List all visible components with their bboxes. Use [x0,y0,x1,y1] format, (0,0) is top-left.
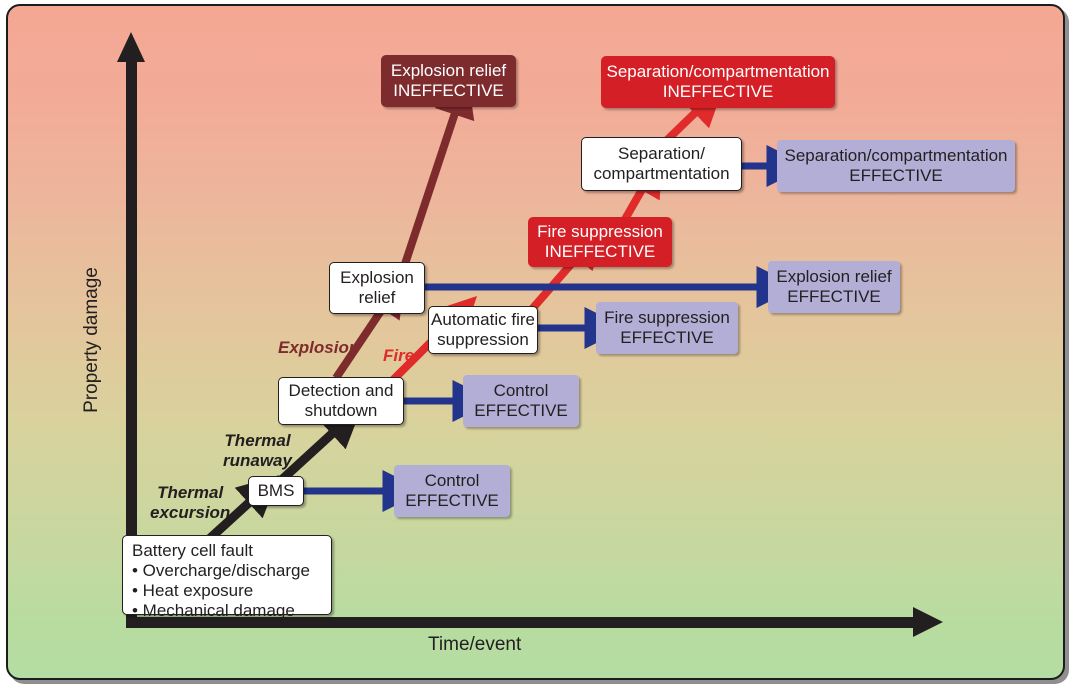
outcome-explosion-relief-effective[interactable]: Explosion relief EFFECTIVE [768,261,900,313]
outcome-explosion-relief-ineffective[interactable]: Explosion relief INEFFECTIVE [381,55,516,107]
node-detection-and-shutdown[interactable]: Detection and shutdown [278,377,404,425]
bms-label: BMS [258,481,295,501]
battery-fault-bullet-1: • Heat exposure [132,581,310,601]
battery-fault-bullet-2: • Mechanical damage [132,601,310,621]
node-explosion-relief[interactable]: Explosion relief [329,262,425,314]
outcome-separation-effective[interactable]: Separation/compartmentation EFFECTIVE [777,140,1015,192]
diagram-frame: Property damage Time/event [6,4,1065,680]
outcome-fire-suppression-ineffective[interactable]: Fire suppression INEFFECTIVE [528,217,672,267]
outcome-control-effective-detection[interactable]: Control EFFECTIVE [463,375,579,427]
battery-fault-title: Battery cell fault [132,541,310,561]
outcome-fire-suppression-effective[interactable]: Fire suppression EFFECTIVE [596,302,738,354]
node-battery-cell-fault[interactable]: Battery cell fault • Overcharge/discharg… [122,535,332,615]
y-axis-arrowhead-icon [117,32,145,62]
diagram-canvas: Property damage Time/event [0,0,1073,689]
arrow-explosion-relief-ineffective [405,110,456,264]
x-axis-arrowhead-icon [913,607,943,637]
battery-fault-bullet-0: • Overcharge/discharge [132,561,310,581]
node-automatic-fire-suppression[interactable]: Automatic fire suppression [428,306,538,354]
node-separation-compartmentation[interactable]: Separation/ compartmentation [581,137,742,191]
outcome-control-effective-bms[interactable]: Control EFFECTIVE [394,465,510,517]
label-explosion: Explosion [278,338,359,358]
label-thermal-runaway: Thermal runaway [223,431,292,470]
x-axis-label: Time/event [428,634,521,656]
outcome-separation-ineffective[interactable]: Separation/compartmentation INEFFECTIVE [601,56,835,108]
y-axis-label: Property damage [81,240,103,440]
label-fire: Fire [383,346,414,366]
node-bms[interactable]: BMS [248,476,304,506]
label-thermal-excursion: Thermal excursion [150,483,230,522]
